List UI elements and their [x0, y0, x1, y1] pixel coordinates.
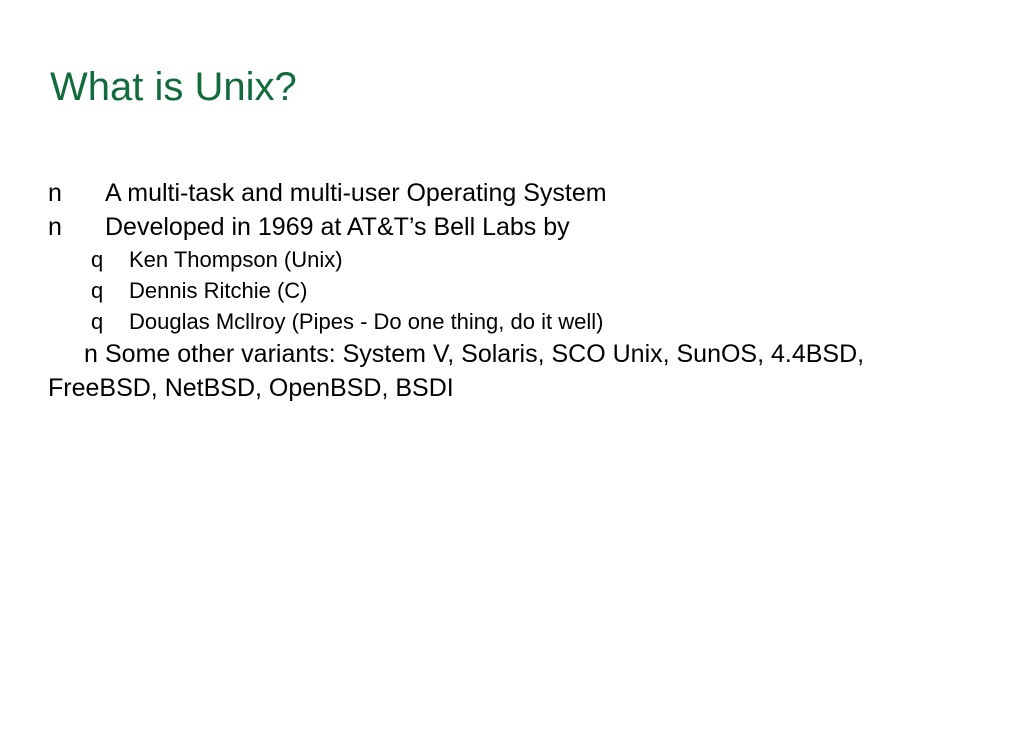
bullet-marker-q-icon: q	[110, 244, 129, 275]
bullet-marker-n-icon: n	[84, 210, 105, 244]
bullet-item-level1: nDeveloped in 1969 at AT&T’s Bell Labs b…	[84, 210, 968, 244]
slide-canvas: What is Unix? nA multi-task and multi-us…	[0, 0, 1024, 748]
bullet-text: A multi-task and multi-user Operating Sy…	[105, 179, 607, 207]
bullet-text: Douglas Mcllroy (Pipes - Do one thing, d…	[129, 309, 603, 334]
bullet-item-level2: qDennis Ritchie (C)	[110, 275, 968, 306]
bullet-marker-n-icon: n	[84, 337, 105, 371]
bullet-item-level1: nSome other variants: System V, Solaris,…	[48, 337, 968, 405]
bullet-item-level1: nA multi-task and multi-user Operating S…	[84, 176, 968, 210]
bullet-marker-n-icon: n	[84, 176, 105, 210]
bullet-text: Developed in 1969 at AT&T’s Bell Labs by	[105, 213, 570, 241]
slide-body-content: nA multi-task and multi-user Operating S…	[48, 176, 968, 405]
bullet-item-level2: qKen Thompson (Unix)	[110, 244, 968, 275]
page-title: What is Unix?	[50, 63, 297, 111]
bullet-item-level2: qDouglas Mcllroy (Pipes - Do one thing, …	[110, 306, 968, 337]
bullet-text: Ken Thompson (Unix)	[129, 247, 343, 272]
bullet-text: Some other variants: System V, Solaris, …	[48, 340, 864, 402]
bullet-marker-q-icon: q	[110, 306, 129, 337]
bullet-marker-q-icon: q	[110, 275, 129, 306]
bullet-text: Dennis Ritchie (C)	[129, 278, 308, 303]
